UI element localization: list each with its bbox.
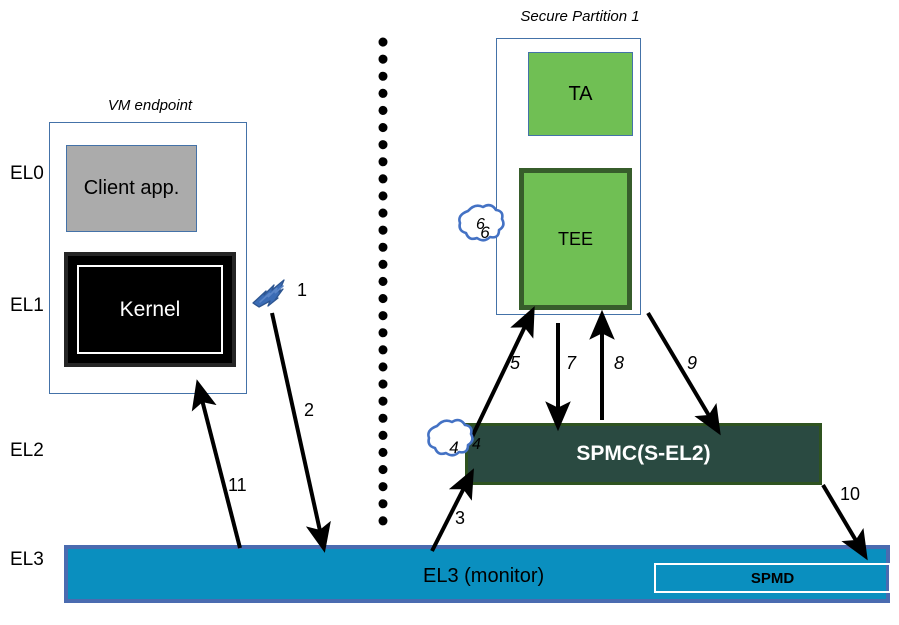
client-app-label: Client app. — [84, 177, 180, 200]
ta-label: TA — [568, 83, 592, 106]
el-label-el1: EL1 — [10, 295, 44, 317]
spmc-block[interactable]: SPMC(S-EL2) — [465, 423, 822, 485]
tee-block[interactable]: TEE — [519, 168, 632, 310]
arrow-9 — [648, 313, 714, 424]
step-label-11: 11 — [228, 475, 247, 496]
kernel-inner-frame: Kernel — [77, 265, 223, 354]
vm-endpoint-caption: VM endpoint — [50, 97, 250, 114]
cloud-badge-6-number: 6 — [469, 223, 501, 243]
ta-block[interactable]: TA — [528, 52, 633, 136]
el-label-el2: EL2 — [10, 440, 44, 462]
step-label-7: 7 — [566, 353, 576, 374]
step-label-10: 10 — [840, 484, 860, 505]
step-label-1: 1 — [297, 280, 307, 301]
cloud-badge-4: 4 — [438, 428, 470, 460]
arrow-5 — [472, 318, 529, 437]
step-label-8: 8 — [614, 353, 624, 374]
arrow-2 — [272, 313, 322, 540]
el-label-el3: EL3 — [10, 549, 44, 571]
diagram-canvas: VM endpoint Secure Partition 1 EL0 EL1 E… — [0, 0, 899, 625]
cloud-badge-6: 6 — [469, 213, 501, 245]
step-label-5: 5 — [510, 353, 520, 374]
secure-partition-caption: Secure Partition 1 — [480, 8, 680, 25]
spmc-label: SPMC(S-EL2) — [576, 442, 710, 466]
tee-label: TEE — [558, 229, 593, 250]
step-label-4: 4 — [472, 436, 481, 454]
kernel-block[interactable]: Kernel — [64, 252, 236, 367]
cloud-badge-4-number: 4 — [438, 438, 470, 458]
el3-monitor-bar[interactable]: EL3 (monitor) SPMD — [64, 545, 890, 603]
step-label-9: 9 — [687, 353, 697, 374]
el3-monitor-label: EL3 (monitor) — [423, 565, 544, 588]
client-app-block[interactable]: Client app. — [66, 145, 197, 232]
arrow-11 — [200, 392, 240, 548]
el-label-el0: EL0 — [10, 163, 44, 185]
step-label-3: 3 — [455, 508, 465, 529]
kernel-label: Kernel — [120, 298, 181, 322]
spmd-block[interactable]: SPMD — [654, 563, 891, 593]
lightning-bolt-icon — [253, 280, 284, 307]
step-label-2: 2 — [304, 400, 314, 421]
spmd-label: SPMD — [751, 570, 794, 587]
